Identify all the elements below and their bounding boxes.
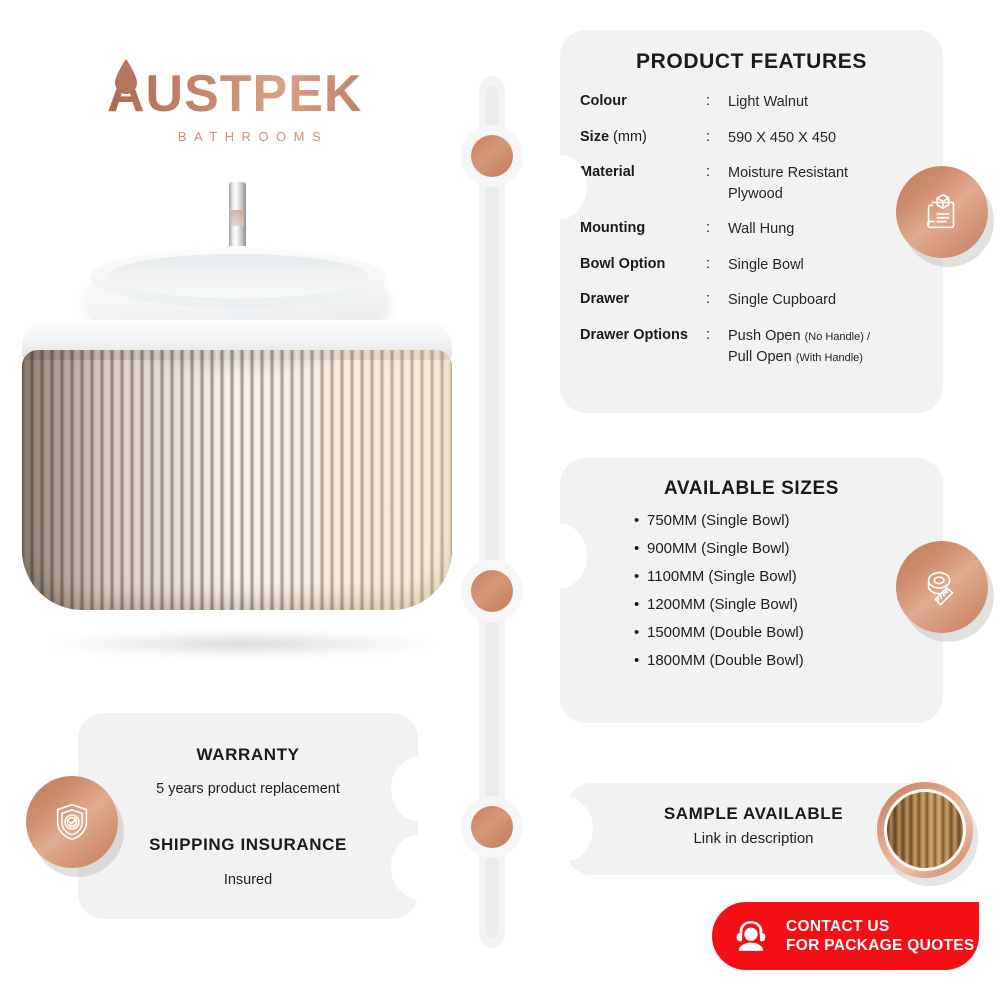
feature-row: Colour : Light Walnut (580, 92, 943, 113)
infographic-canvas: AUSTPEK BATHROOMS PRODUCT FEATURES Colou… (0, 0, 1000, 1000)
features-list: Colour : Light Walnut Size (mm) : 590 X … (580, 92, 943, 367)
feature-row: Size (mm) : 590 X 450 X 450 (580, 128, 943, 149)
feature-value: Wall Hung (728, 219, 794, 240)
basin-inner (108, 254, 368, 298)
feature-value: 590 X 450 X 450 (728, 128, 836, 149)
feature-value-alt: Pull Open (728, 349, 792, 365)
feature-value: Moisture Resistant Plywood (728, 163, 893, 204)
contact-line-2: FOR PACKAGE QUOTES (786, 936, 975, 955)
feature-separator: : (706, 326, 728, 346)
feature-separator: : (706, 163, 728, 183)
feature-label: Drawer Options (580, 327, 688, 343)
feature-label: Material (580, 164, 635, 180)
size-label: 1500MM (Double Bowl) (647, 624, 804, 641)
brand-name: AUSTPEK (105, 68, 395, 120)
bullet: • (634, 624, 647, 642)
list-item: •750MM (Single Bowl) (634, 512, 943, 530)
feature-row: Bowl Option : Single Bowl (580, 255, 943, 276)
water-drop-icon (113, 58, 139, 96)
feature-row: Mounting : Wall Hung (580, 219, 943, 240)
list-item: •900MM (Single Bowl) (634, 540, 943, 558)
feature-label-unit: (mm) (613, 129, 647, 145)
warranty-card: WARRANTY 5 years product replacement SHI… (78, 713, 418, 919)
warranty-title: WARRANTY (78, 745, 418, 765)
product-shadow (48, 632, 438, 656)
contact-text: CONTACT US FOR PACKAGE QUOTES (786, 917, 975, 956)
size-label: 750MM (Single Bowl) (647, 512, 790, 529)
feature-label: Drawer (580, 291, 629, 307)
features-title: PRODUCT FEATURES (560, 50, 943, 74)
shipping-title: SHIPPING INSURANCE (78, 835, 418, 855)
warranty-text: 5 years product replacement (78, 781, 418, 797)
contact-line-1: CONTACT US (786, 917, 975, 936)
measuring-tape-icon (896, 541, 988, 633)
feature-separator: : (706, 128, 728, 148)
feature-value-note: (No Handle) / (805, 331, 870, 343)
spine-node-sizes (461, 560, 523, 622)
headset-support-icon (730, 915, 772, 957)
spine-node-sample (461, 796, 523, 858)
list-item: •1800MM (Double Bowl) (634, 652, 943, 670)
wood-texture-disc (884, 789, 966, 871)
contact-us-banner[interactable]: CONTACT US FOR PACKAGE QUOTES (712, 902, 979, 970)
sizes-title: AVAILABLE SIZES (560, 478, 943, 500)
product-features-card: PRODUCT FEATURES Colour : Light Walnut S… (560, 30, 943, 413)
fluted-cabinet (22, 350, 452, 610)
feature-row: Drawer : Single Cupboard (580, 290, 943, 311)
feature-row: Material : Moisture Resistant Plywood (580, 163, 943, 204)
shipping-text: Insured (78, 872, 418, 888)
feature-label: Mounting (580, 220, 645, 236)
wood-shading (22, 350, 452, 610)
card-notch (539, 797, 593, 861)
spine-node-features (461, 125, 523, 187)
card-notch (391, 835, 445, 899)
card-notch (533, 155, 587, 219)
feature-value-alt-note: (With Handle) (796, 352, 863, 364)
feature-value: Single Cupboard (728, 290, 836, 311)
wood-sample-swatch (877, 782, 973, 878)
feature-separator: : (706, 290, 728, 310)
shield-check-icon (26, 776, 118, 868)
available-sizes-card: AVAILABLE SIZES •750MM (Single Bowl) •90… (560, 458, 943, 723)
product-photo (8, 170, 458, 690)
feature-row: Drawer Options : Push Open (No Handle) /… (580, 326, 943, 367)
size-label: 1800MM (Double Bowl) (647, 652, 804, 669)
feature-label: Colour (580, 93, 627, 109)
card-notch (533, 524, 587, 588)
feature-value: Single Bowl (728, 255, 804, 276)
size-label: 1200MM (Single Bowl) (647, 596, 798, 613)
bullet: • (634, 596, 647, 614)
list-item: •1500MM (Double Bowl) (634, 624, 943, 642)
bullet: • (634, 568, 647, 586)
bullet: • (634, 652, 647, 670)
feature-separator: : (706, 219, 728, 239)
product-spec-scroll-icon (896, 166, 988, 258)
feature-value: Light Walnut (728, 92, 808, 113)
feature-separator: : (706, 92, 728, 112)
size-label: 900MM (Single Bowl) (647, 540, 790, 557)
bullet: • (634, 512, 647, 530)
card-notch (391, 757, 445, 821)
bullet: • (634, 540, 647, 558)
size-label: 1100MM (Single Bowl) (647, 568, 797, 585)
feature-label: Bowl Option (580, 256, 665, 272)
feature-label: Size (580, 129, 613, 145)
feature-separator: : (706, 255, 728, 275)
brand-tagline: BATHROOMS (105, 129, 395, 144)
brand-logo: AUSTPEK BATHROOMS (105, 68, 395, 158)
feature-value: Push Open (728, 328, 801, 344)
